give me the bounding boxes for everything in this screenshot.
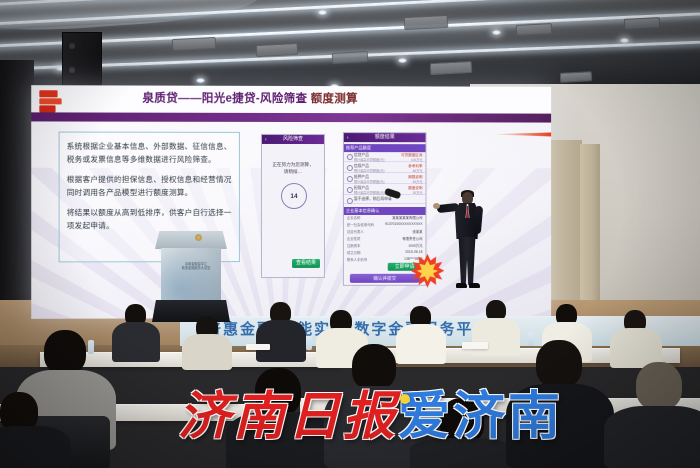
podium-body: [161, 248, 221, 306]
field-row: 统一社会信用代码 91370100XXXXXXXXXX: [344, 222, 426, 229]
field-key: 企业性质: [347, 236, 361, 241]
ceiling-vent: [516, 23, 553, 36]
field-key: 注册资本: [347, 243, 361, 248]
conference-photo: 泉质贷——阳光e捷贷-风险筛查 额度测算 系统根据企业基本信息、外部数据、征信信…: [0, 0, 700, 468]
field-key: 法定代表人: [347, 229, 364, 234]
ceiling-vent: [624, 17, 661, 30]
door-panel: [580, 144, 600, 316]
slide-title-sep: ——: [178, 93, 202, 105]
phone-header: 额度结果: [344, 133, 426, 142]
field-value: 某某某某某有限公司: [392, 215, 422, 220]
radio-button[interactable]: [347, 176, 353, 182]
watermark-blue-text: 爱济南: [398, 386, 563, 447]
confirm-submit-button[interactable]: 确认并提交: [350, 274, 420, 283]
podium-base: [152, 300, 230, 322]
slide-title-part1: 泉质贷: [142, 93, 178, 105]
chevron-left-icon[interactable]: ‹: [347, 135, 349, 141]
door-panel: [548, 140, 582, 316]
downlight: [318, 10, 327, 15]
ceiling-vent: [404, 15, 449, 30]
section-title-company: 企业基本信息确认: [344, 207, 426, 215]
progress-ring: 14: [281, 183, 307, 209]
product-name: 暂不选择，稍后再申请: [354, 197, 392, 202]
field-value: 张某某: [412, 229, 422, 234]
product-row-skip[interactable]: 暂不选择，稍后再申请: [344, 195, 426, 204]
water-bottle: [88, 340, 94, 354]
slide-paragraph: 系统根据企业基本信息、外部数据、征信信息、税务或发票信息等多维数据进行风险筛查。: [60, 133, 239, 166]
podium-label-line2: 普惠金融服务大讲堂: [178, 266, 214, 270]
phone-header: 风险筛查: [262, 135, 324, 144]
watermark: 济南日报爱济南: [178, 374, 563, 449]
ceiling-vent: [560, 71, 592, 83]
view-result-button[interactable]: 查看结果: [292, 259, 320, 268]
podium-top: [155, 231, 227, 249]
watermark-dot: [400, 394, 410, 404]
downlight: [398, 58, 407, 63]
product-row[interactable]: 抵押产品 预计最高可贷额度(元) 期限说明 50万元: [344, 173, 426, 184]
downlight: [196, 78, 205, 83]
slide-header-bar: [31, 112, 551, 122]
watermark-red-text: 济南日报: [178, 386, 398, 447]
radio-button[interactable]: [347, 187, 353, 193]
downlight: [492, 30, 501, 35]
product-row[interactable]: 信保产品 预计最高可贷额度(元) 参考利率 80万元: [344, 162, 426, 173]
ceiling-vent: [172, 37, 217, 51]
loading-text-line2: 请稍候…: [262, 168, 324, 175]
radio-button[interactable]: [347, 198, 353, 204]
chevron-left-icon[interactable]: ‹: [265, 136, 267, 142]
field-key: 成立日期: [347, 250, 361, 255]
slide-title: 泉质贷——阳光e捷贷-风险筛查 额度测算: [142, 90, 357, 107]
ceiling-vent: [430, 61, 473, 75]
field-value: 91370100XXXXXXXXXX: [385, 222, 422, 226]
field-value: 有限责任公司: [402, 236, 422, 241]
slide-paragraph: 将结果以额度从高到低排序，供客户自行选择一项发起申请。: [60, 206, 239, 232]
podium-emblem: [195, 234, 202, 241]
ceiling-vent: [332, 51, 369, 64]
slide-paragraph: 根据客户提供的担保信息、授权信息和经营情况同时调用各产品模型进行额度测算。: [60, 173, 239, 199]
phone-header-title: 风险筛查: [283, 136, 303, 142]
field-key: 联系人手机号: [347, 257, 367, 262]
slide-title-part2: 阳光e捷贷-风险筛查: [202, 93, 307, 105]
desk-papers: [246, 344, 270, 350]
radio-button[interactable]: [347, 165, 353, 171]
ceiling: [0, 0, 700, 96]
downlight: [620, 38, 629, 43]
presenter-shoe: [456, 283, 467, 288]
phone-mockup-risk-screening: 风险筛查 ‹ 正在努力为您测算， 请稍候… 14 查看结果: [261, 134, 325, 278]
ceiling-vent: [256, 43, 299, 57]
field-key: 统一社会信用代码: [347, 222, 374, 227]
field-row: 企业名称 某某某某某有限公司: [344, 215, 426, 222]
desk-papers: [462, 342, 488, 349]
presenter-shoe: [469, 283, 480, 288]
field-key: 企业名称: [347, 215, 361, 220]
product-row[interactable]: 信贷产品 预计最高可贷额度(元) 可贷额度区间 100万元: [344, 151, 426, 162]
water-bottle: [528, 332, 534, 346]
phone-header-title: 额度结果: [375, 134, 395, 140]
field-value: 2015-06-18: [405, 250, 422, 254]
loading-text-line1: 正在努力为您测算，: [262, 161, 324, 168]
slide-title-part3: 额度测算: [311, 93, 358, 105]
water-bottle: [306, 336, 312, 350]
radio-button[interactable]: [347, 154, 353, 160]
presenter-hand: [433, 203, 440, 209]
bank-b-logo: [39, 90, 65, 112]
field-value: 1000万元: [408, 243, 422, 248]
podium-label: 泉城金融智享汇 普惠金融服务大讲堂: [178, 262, 214, 271]
